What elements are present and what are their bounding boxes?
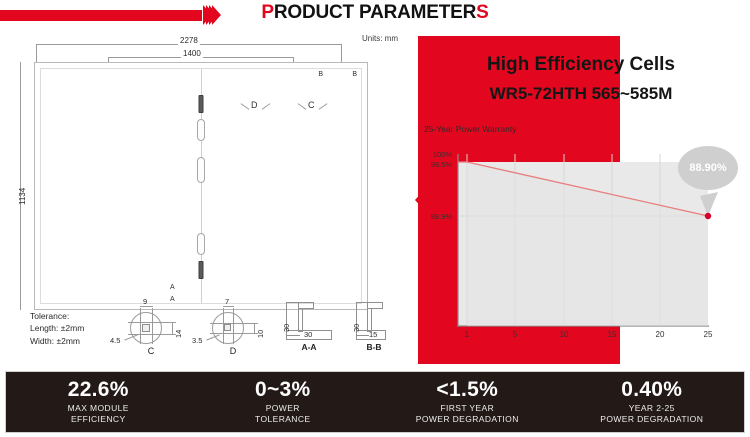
- detail-view-d: 7 10 3.5 D: [198, 304, 268, 360]
- dim-label-1134: 1134: [18, 186, 27, 207]
- stat-power-tolerance: 0~3% POWER TOLERANCE: [191, 372, 376, 432]
- junction-box-mid: [197, 157, 205, 183]
- x-tick-25: 25: [698, 330, 718, 339]
- detail-d-hline: [210, 323, 258, 324]
- callout-letter-d: D: [251, 100, 258, 110]
- stat-label-line-1: POWER: [266, 403, 300, 414]
- stat-label-line-1: MAX MODULE: [68, 403, 129, 414]
- section-marker-b1: B: [318, 71, 323, 78]
- section-view-bb: 30 15 B-B: [350, 300, 398, 360]
- section-view-aa: 30 30 A-A: [280, 300, 338, 360]
- stat-max-module-efficiency: 22.6% MAX MODULE EFFICIENCY: [6, 372, 191, 432]
- detail-d-vline: [233, 308, 234, 344]
- detail-d-hline: [210, 333, 258, 334]
- junction-box-low: [197, 233, 205, 255]
- detail-d-dim-right: [254, 323, 255, 334]
- detail-view-c: 9 14 4.5 C: [116, 304, 186, 360]
- stat-label-line-2: TOLERANCE: [255, 414, 310, 425]
- units-label: Units: mm: [362, 34, 398, 43]
- detail-c-hole: [142, 324, 150, 332]
- dim-label-1400: 1400: [181, 49, 203, 58]
- page-title-middle: RODUCT PARAMETER: [274, 2, 476, 23]
- detail-d-label: D: [198, 346, 268, 356]
- product-title-line-2: WR5-72HTH 565~585M: [418, 84, 744, 104]
- power-warranty-chart: 100% 98.5% 88.9%: [418, 140, 744, 355]
- page-title-prefix: P: [261, 2, 273, 23]
- dimtick: [36, 44, 37, 62]
- section-bb-height: 30: [352, 324, 361, 332]
- dimtick: [341, 44, 342, 62]
- detail-d-vline: [223, 308, 224, 344]
- section-bb-web: [367, 308, 372, 332]
- detail-c-vline: [140, 308, 141, 344]
- stat-value: <1.5%: [436, 379, 498, 401]
- connector-bottom: [199, 261, 204, 279]
- detail-c-hline: [128, 322, 176, 323]
- stat-year-2-25-degradation: 0.40% YEAR 2-25 POWER DEGRADATION: [560, 372, 745, 432]
- detail-c-dim-top: [140, 306, 153, 307]
- section-bb-label: B-B: [350, 342, 398, 352]
- section-marker-a2: A: [170, 296, 175, 303]
- detail-c-num-left: 4.5: [110, 336, 120, 345]
- section-marker-a1: A: [170, 284, 175, 291]
- dim-label-2278: 2278: [178, 36, 200, 45]
- end-point-marker: [705, 213, 711, 219]
- tolerance-line-3: Width: ±2mm: [30, 335, 84, 347]
- detail-d-hole: [224, 324, 231, 331]
- stat-value: 22.6%: [68, 379, 129, 401]
- page-root: PRODUCT PARAMETERS Units: mm 2278 1400 7…: [0, 0, 750, 437]
- stat-label-line-2: POWER DEGRADATION: [416, 414, 519, 425]
- warranty-chart-title: 25-Year Power Warranty: [424, 124, 516, 134]
- connector-top: [199, 95, 204, 113]
- callout-bubble: 88.90%: [678, 146, 738, 190]
- page-title: PRODUCT PARAMETERS: [0, 2, 750, 24]
- stats-bar: 22.6% MAX MODULE EFFICIENCY 0~3% POWER T…: [5, 371, 745, 433]
- detail-d-dim-top: [223, 306, 234, 307]
- detail-d-num-right: 10: [256, 330, 265, 338]
- detail-c-label: C: [116, 346, 186, 356]
- tolerance-line-2: Length: ±2mm: [30, 322, 84, 334]
- x-tick-1: 1: [457, 330, 477, 339]
- section-aa-web: [298, 308, 303, 332]
- detail-c-num-right: 14: [174, 330, 183, 338]
- x-tick-15: 15: [602, 330, 622, 339]
- stat-label-line-2: EFFICIENCY: [71, 414, 126, 425]
- right-panel: High Efficiency Cells WR5-72HTH 565~585M…: [418, 36, 744, 364]
- tolerance-line-1: Tolerance:: [30, 310, 84, 322]
- callout-bubble-value: 88.90%: [689, 162, 726, 174]
- section-aa-height: 30: [282, 324, 291, 332]
- junction-box-top: [197, 119, 205, 141]
- page-header: PRODUCT PARAMETERS: [0, 0, 750, 30]
- x-tick-5: 5: [505, 330, 525, 339]
- stat-value: 0~3%: [255, 379, 311, 401]
- stat-first-year-degradation: <1.5% FIRST YEAR POWER DEGRADATION: [375, 372, 560, 432]
- x-tick-20: 20: [650, 330, 670, 339]
- detail-d-num-top: 7: [225, 297, 229, 306]
- detail-c-num-top: 9: [143, 297, 147, 306]
- detail-c-dim-right: [172, 322, 173, 335]
- section-aa-width: 30: [304, 330, 312, 339]
- section-bb-width: 15: [369, 330, 377, 339]
- module-drawing: Units: mm 2278 1400 790 400 1134 1093: [8, 32, 408, 364]
- page-title-suffix: S: [476, 2, 488, 23]
- detail-d-num-left: 3.5: [192, 336, 202, 345]
- section-marker-b2: B: [352, 71, 357, 78]
- stat-label-line-1: YEAR 2-25: [629, 403, 675, 414]
- product-title-line-1: High Efficiency Cells: [418, 54, 744, 76]
- section-aa-label: A-A: [280, 342, 338, 352]
- callout-letter-c: C: [308, 100, 315, 110]
- tolerance-block: Tolerance: Length: ±2mm Width: ±2mm: [30, 310, 84, 347]
- stat-label-line-2: POWER DEGRADATION: [600, 414, 703, 425]
- detail-c-vline: [152, 308, 153, 344]
- module-panel: B B A A: [34, 62, 368, 310]
- stat-value: 0.40%: [621, 379, 682, 401]
- x-tick-10: 10: [554, 330, 574, 339]
- stat-label-line-1: FIRST YEAR: [440, 403, 494, 414]
